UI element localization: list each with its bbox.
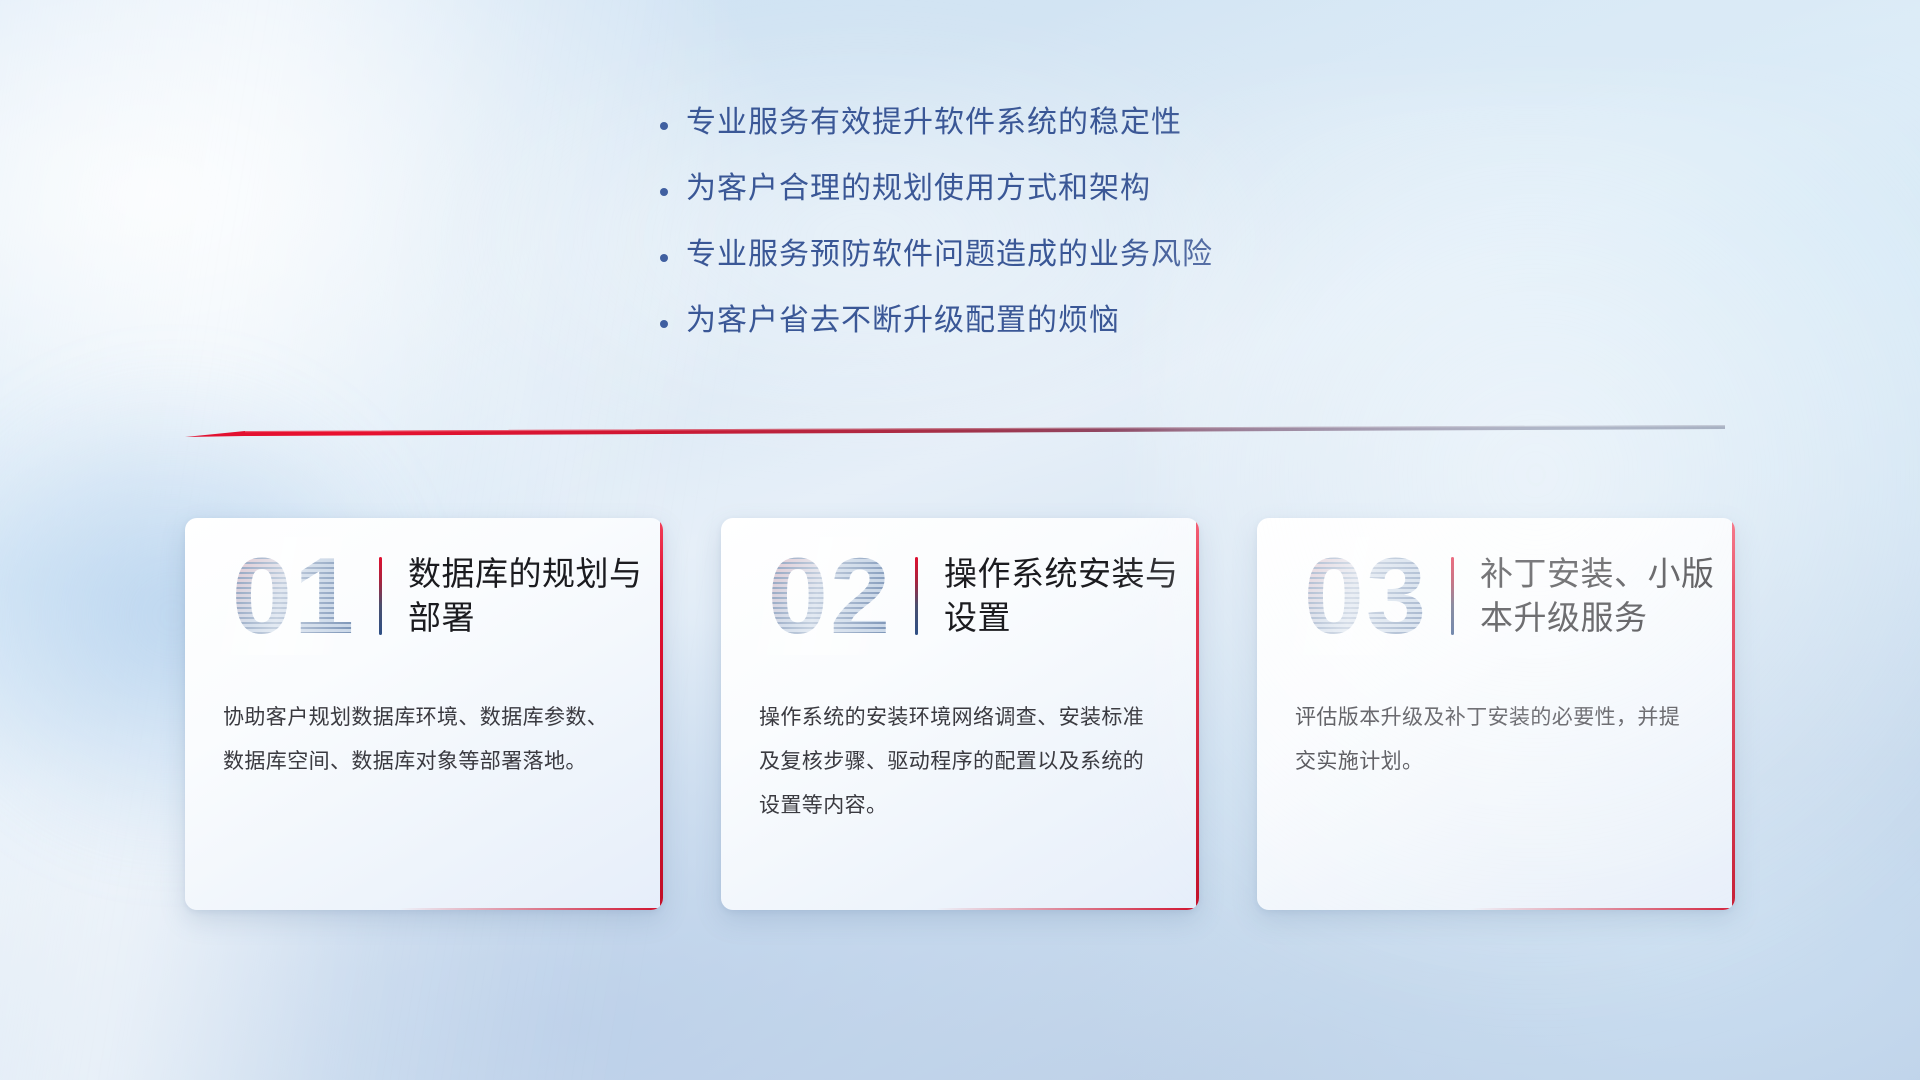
bullet-dot-icon [660, 108, 686, 134]
section-divider [185, 424, 1725, 442]
slide-canvas: 专业服务有效提升软件系统的稳定性 为客户合理的规划使用方式和架构 专业服务预防软… [0, 0, 1920, 1080]
bullet-text: 专业服务有效提升软件系统的稳定性 [686, 105, 1182, 141]
card-accent-bottom [400, 908, 663, 910]
list-item: 为客户合理的规划使用方式和架构 [660, 171, 1560, 207]
card-title: 补丁安装、小版本升级服务 [1480, 552, 1735, 639]
divider-wedge-icon [185, 424, 1725, 442]
card-title: 操作系统安装与设置 [944, 552, 1199, 639]
bullet-dot-icon [660, 174, 686, 200]
card-header: 02 操作系统安装与设置 [721, 518, 1199, 674]
list-item: 为客户省去不断升级配置的烦恼 [660, 303, 1560, 339]
card-header: 01 数据库的规划与部署 [185, 518, 663, 674]
service-card-01[interactable]: 01 数据库的规划与部署 协助客户规划数据库环境、数据库参数、数据库空间、数据库… [185, 518, 663, 910]
list-item: 专业服务预防软件问题造成的业务风险 [660, 237, 1560, 273]
bullet-dot-icon [660, 240, 686, 266]
title-divider-icon [915, 557, 918, 635]
bullet-text: 专业服务预防软件问题造成的业务风险 [686, 237, 1213, 273]
card-body-text: 操作系统的安装环境网络调查、安装标准及复核步骤、驱动程序的配置以及系统的设置等内… [721, 674, 1199, 828]
bullet-dot-icon [660, 306, 686, 332]
card-accent-bottom [1472, 908, 1735, 910]
card-body-text: 评估版本升级及补丁安装的必要性，并提交实施计划。 [1257, 674, 1735, 784]
card-number-watermark: 02 [755, 537, 905, 655]
card-title: 数据库的规划与部署 [408, 552, 663, 639]
service-card-02[interactable]: 02 操作系统安装与设置 操作系统的安装环境网络调查、安装标准及复核步骤、驱动程… [721, 518, 1199, 910]
card-accent-bottom [936, 908, 1199, 910]
service-card-03[interactable]: 03 补丁安装、小版本升级服务 评估版本升级及补丁安装的必要性，并提交实施计划。 [1257, 518, 1735, 910]
card-number-watermark: 03 [1291, 537, 1441, 655]
bullet-text: 为客户省去不断升级配置的烦恼 [686, 303, 1120, 339]
list-item: 专业服务有效提升软件系统的稳定性 [660, 105, 1560, 141]
card-body-text: 协助客户规划数据库环境、数据库参数、数据库空间、数据库对象等部署落地。 [185, 674, 663, 784]
benefit-bullet-list: 专业服务有效提升软件系统的稳定性 为客户合理的规划使用方式和架构 专业服务预防软… [660, 105, 1560, 369]
bullet-text: 为客户合理的规划使用方式和架构 [686, 171, 1151, 207]
card-header: 03 补丁安装、小版本升级服务 [1257, 518, 1735, 674]
card-number-watermark: 01 [219, 537, 369, 655]
service-card-list: 01 数据库的规划与部署 协助客户规划数据库环境、数据库参数、数据库空间、数据库… [185, 518, 1735, 910]
title-divider-icon [379, 557, 382, 635]
title-divider-icon [1451, 557, 1454, 635]
